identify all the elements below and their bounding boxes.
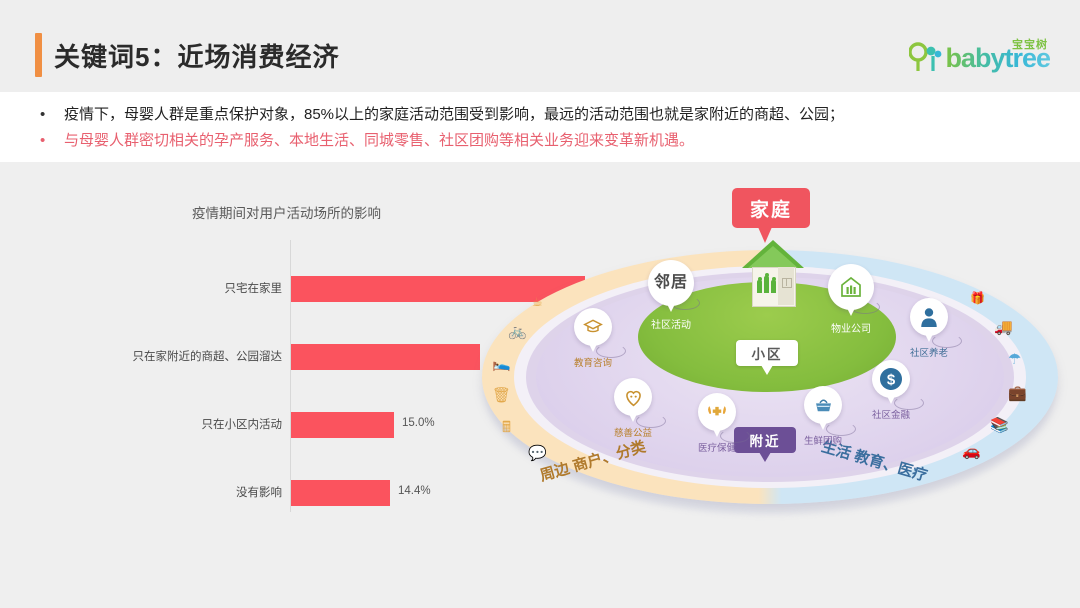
vacuum-icon: 🗑 <box>492 388 511 403</box>
medical-case-icon: 💼 <box>1008 386 1027 401</box>
pin-caption-education-consulting: 教育咨询 <box>560 355 626 369</box>
bar-value-label-2: 15.0% <box>402 417 435 429</box>
bullet-item-2: • 与母婴人群密切相关的孕产服务、本地生活、同城零售、社区团购等相关业务迎来变革… <box>40 132 694 150</box>
title-accent-bar <box>35 33 42 77</box>
babytree-mark-icon <box>909 42 943 72</box>
bullet-item-1: • 疫情下，母婴人群是重点保护对象，85%以上的家庭活动范围受到影响，最远的活动… <box>40 106 844 124</box>
bullet-marker-icon: • <box>40 132 50 150</box>
bar-category-label: 只在小区内活动 <box>202 416 283 432</box>
pin-healthcare: 医疗保健 <box>698 393 736 439</box>
family-callout: 家庭 <box>732 188 810 228</box>
pin-community-finance: $ 社区金融 <box>872 360 910 406</box>
family-house-icon <box>742 240 804 306</box>
pin-community-elderly-care: 社区养老 <box>910 298 948 344</box>
meeting-icon: 💬 <box>528 446 547 461</box>
truck-icon: 🚚 <box>994 320 1013 335</box>
bar-value-label-3: 14.4% <box>398 485 431 497</box>
bar-category-label: 只在家附近的商超、公园溜达 <box>133 348 283 364</box>
bar-category-label: 没有影响 <box>236 484 282 500</box>
pin-caption-community-activity: 社区活动 <box>635 316 707 331</box>
bullet-text-2: 与母婴人群密切相关的孕产服务、本地生活、同城零售、社区团购等相关业务迎来变革新机… <box>64 132 694 150</box>
family-callout-tail-icon <box>758 227 772 243</box>
bullet-band: • 疫情下，母婴人群是重点保护对象，85%以上的家庭活动范围受到影响，最远的活动… <box>0 92 1080 162</box>
pin-charity: 慈善公益 <box>614 378 652 424</box>
bullet-text-1: 疫情下，母婴人群是重点保护对象，85%以上的家庭活动范围受到影响，最远的活动范围… <box>64 106 844 124</box>
zone-tag-nearby-tail-icon <box>759 452 771 462</box>
chart-title: 疫情期间对用户活动场所的影响 <box>192 202 381 222</box>
pin-caption-community-finance: 社区金融 <box>858 407 924 421</box>
pin-property-company: 物业公司 <box>828 264 874 320</box>
bullet-marker-icon: • <box>40 106 50 124</box>
calculator-icon: 🖩 <box>502 420 511 435</box>
pin-caption-property-company: 物业公司 <box>815 320 887 335</box>
umbrella-icon: ☂ <box>1008 352 1021 367</box>
books-icon: 📚 <box>990 418 1009 433</box>
slide: 关键词5：近场消费经济 宝宝树 babytree • 疫情下，母婴人群是重点保护… <box>0 0 1080 608</box>
near-field-ecosystem-diagram: 周边 商户、分类 生活 教育、医疗 ☕ 🚲 🛌 🗑 🖩 💬 🎁 🚚 ☂ 💼 📚 … <box>470 188 1070 548</box>
pin-caption-charity: 慈善公益 <box>600 425 666 439</box>
taxi-icon: 🚗 <box>962 444 981 459</box>
bicycle-icon: 🚲 <box>508 324 527 339</box>
bar-3 <box>291 480 390 506</box>
sofa-icon: 🛌 <box>492 356 511 371</box>
neighbor-label: 邻居 <box>654 275 688 291</box>
slide-header: 关键词5：近场消费经济 宝宝树 babytree <box>0 0 1080 92</box>
bar-1 <box>291 344 480 370</box>
zone-tag-community: 小区 <box>736 340 798 366</box>
gift-icon: 🎁 <box>970 292 985 304</box>
pin-neighbor: 邻居 社区活动 <box>648 260 694 316</box>
logo-cn-text: 宝宝树 <box>1012 36 1048 52</box>
teapot-icon: ☕ <box>532 296 543 308</box>
pin-caption-community-elderly-care: 社区养老 <box>896 345 962 359</box>
page-title: 关键词5：近场消费经济 <box>54 37 339 74</box>
pin-caption-fresh-group-buying: 生鲜团购 <box>790 433 856 447</box>
zone-tag-community-label: 小区 <box>752 343 783 363</box>
zone-tag-nearby-label: 附近 <box>750 430 781 450</box>
family-callout-label: 家庭 <box>750 195 792 222</box>
bar-category-label: 只宅在家里 <box>225 280 283 296</box>
babytree-logo: 宝宝树 babytree <box>909 36 1050 72</box>
pin-caption-healthcare: 医疗保健 <box>684 440 750 454</box>
pin-education-consulting: 教育咨询 <box>574 308 612 354</box>
svg-text:$: $ <box>887 372 896 389</box>
pin-fresh-group-buying: 生鲜团购 <box>804 386 842 432</box>
bar-2 <box>291 412 394 438</box>
zone-tag-community-tail-icon <box>761 365 773 375</box>
